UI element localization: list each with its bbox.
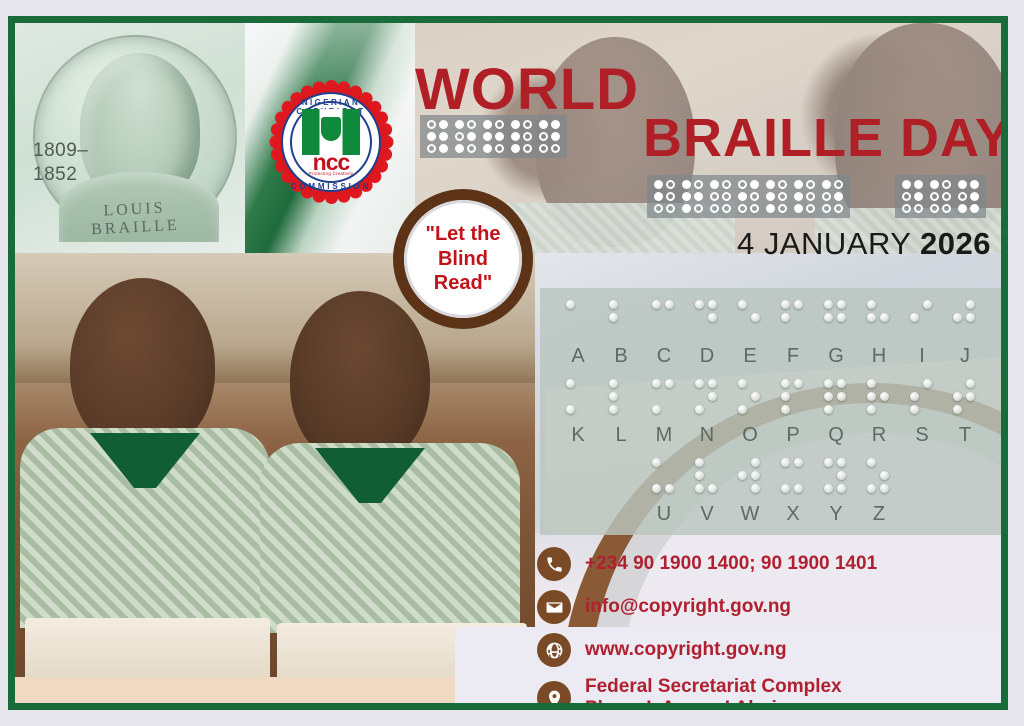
braille-dot [953,379,962,388]
braille-dot [738,192,747,201]
poster-frame: 1809– 1852 LOUIS BRAILLE [8,16,1008,710]
braille-cell-l [609,379,633,418]
braille-dot [880,300,889,309]
braille-dot [751,326,760,335]
braille-dot [622,405,631,414]
alphabet-cell-w: W [729,458,772,529]
braille-dot [781,326,790,335]
braille-dot [930,192,939,201]
alphabet-row-2: KLMNOPQRST [540,379,1001,450]
braille-dot [794,192,803,201]
braille-dot [867,392,876,401]
braille-dot [970,204,979,213]
braille-dot [880,326,889,335]
braille-dot [751,484,760,493]
braille-cell-h [867,300,891,339]
braille-dot [781,471,790,480]
braille-cell-w [738,458,762,497]
braille-dot [794,484,803,493]
braille-dot [579,405,588,414]
contact-text: info@copyright.gov.ng [585,596,791,618]
braille-dot [710,180,719,189]
alphabet-cell-o: O [729,379,772,450]
alphabet-letter-label: F [787,341,799,371]
braille-dot [652,300,661,309]
braille-dot [455,144,464,153]
braille-dot [794,300,803,309]
braille-dot [738,471,747,480]
braille-dot [953,300,962,309]
contact-row[interactable]: +234 90 1900 1400; 90 1900 1401 [537,547,1001,581]
braille-dot [695,484,704,493]
alphabet-cell-r: R [858,379,901,450]
braille-dot [914,204,923,213]
braille-dot [942,180,951,189]
braille-dot [579,313,588,322]
braille-cell-r [682,180,703,213]
location-icon [537,681,571,703]
braille-cell-v [695,458,719,497]
braille-cell-d [695,300,719,339]
braille-dot [867,313,876,322]
logo-tagline: Protecting Creativity [268,171,394,176]
braille-dot [837,326,846,335]
braille-dot [824,326,833,335]
braille-dot [622,379,631,388]
braille-dot [953,392,962,401]
braille-dot [923,392,932,401]
braille-dot [666,192,675,201]
braille-dot [880,392,889,401]
braille-dot [953,313,962,322]
braille-dot [910,405,919,414]
braille-dot [778,204,787,213]
braille-cell-b [609,300,633,339]
braille-dot [666,204,675,213]
braille-strip-braille [647,175,850,218]
braille-dot [708,484,717,493]
braille-dot [665,313,674,322]
braille-dot [652,405,661,414]
braille-dot [708,379,717,388]
alphabet-cell-b: B [600,300,643,371]
braille-dot [566,300,575,309]
braille-dot [902,192,911,201]
braille-dot [495,132,504,141]
braille-cell-o [455,120,476,153]
slogan-text: "Let the Blind Read" [425,222,500,295]
logo-coat-of-arms [321,117,341,141]
braille-dot [652,392,661,401]
braille-cell-a [710,180,731,213]
braille-cell-i [910,300,934,339]
braille-dot [824,392,833,401]
braille-dot [867,326,876,335]
braille-dot [837,405,846,414]
braille-dot [511,120,520,129]
braille-dot [942,192,951,201]
braille-dot [781,379,790,388]
braille-dot [806,192,815,201]
braille-dot [427,132,436,141]
alphabet-letter-label: X [786,499,799,529]
braille-dot [523,144,532,153]
braille-dot [880,458,889,467]
alphabet-cell-f: F [772,300,815,371]
braille-dot [880,484,889,493]
braille-dot [966,405,975,414]
braille-dot [695,471,704,480]
braille-cell-c [652,300,676,339]
braille-dot [834,192,843,201]
braille-dot [609,313,618,322]
braille-dot [666,180,675,189]
alphabet-cell-s: S [901,379,944,450]
alphabet-cell-d: D [686,300,729,371]
braille-dot [511,144,520,153]
braille-dot [722,180,731,189]
braille-dot [766,180,775,189]
alphabet-letter-label: G [828,341,844,371]
braille-dot [794,405,803,414]
alphabet-row-3: UVWXYZ [540,458,1001,529]
braille-dot [824,313,833,322]
student-head-boy [70,278,215,453]
braille-dot [923,405,932,414]
braille-dot [708,313,717,322]
braille-dot [566,392,575,401]
braille-dot [579,392,588,401]
braille-dot [923,326,932,335]
date-day-month: 4 JANUARY [737,226,920,261]
braille-dot [579,300,588,309]
alphabet-letter-label: U [657,499,671,529]
alphabet-cell-a: A [557,300,600,371]
braille-dot [970,192,979,201]
braille-dot [794,326,803,335]
braille-dot [695,405,704,414]
braille-dot [966,300,975,309]
alphabet-letter-label: C [657,341,671,371]
braille-dot [837,458,846,467]
braille-dot [794,180,803,189]
braille-dot [483,120,492,129]
braille-dot [551,144,560,153]
alphabet-cell-p: P [772,379,815,450]
braille-dot [622,313,631,322]
braille-dot [609,405,618,414]
braille-dot [751,313,760,322]
alphabet-cell-y: Y [815,458,858,529]
braille-dot [694,204,703,213]
braille-dot [455,132,464,141]
ncc-logo: NIGERIAN COPYRIGHT ncc Protecting Creati… [268,79,394,205]
email-icon [537,590,571,624]
braille-dot [910,300,919,309]
braille-dot [622,300,631,309]
alphabet-cell-x: X [772,458,815,529]
braille-dot [766,204,775,213]
braille-cell-g [824,300,848,339]
braille-dot [822,180,831,189]
contact-text: +234 90 1900 1400; 90 1900 1401 [585,553,877,575]
alphabet-cell-t: T [944,379,987,450]
braille-dot [622,326,631,335]
contact-row[interactable]: Federal Secretariat Complex Phase I, Ann… [537,676,1001,703]
braille-dot [539,120,548,129]
braille-dot [738,484,747,493]
braille-dot [781,300,790,309]
braille-cell-t [953,379,977,418]
alphabet-letter-label: Z [873,499,885,529]
braille-dot [483,144,492,153]
braille-dot [902,180,911,189]
braille-dot [652,458,661,467]
braille-dot [837,392,846,401]
braille-cell-b [654,180,675,213]
braille-cell-k [566,379,590,418]
contact-list: +234 90 1900 1400; 90 1900 1401info@copy… [537,547,1001,703]
braille-dot [824,300,833,309]
alphabet-letter-label: Y [829,499,842,529]
braille-dot [694,192,703,201]
braille-dot [738,458,747,467]
braille-dot [923,300,932,309]
braille-dot [794,458,803,467]
braille-dot [665,471,674,480]
braille-dot [966,313,975,322]
braille-dot [867,405,876,414]
slogan-line-2: Blind [425,247,500,271]
braille-cell-f [781,300,805,339]
braille-dot [914,180,923,189]
braille-dot [427,120,436,129]
braille-dot [566,405,575,414]
braille-cell-e [822,180,843,213]
braille-dot [738,204,747,213]
braille-dot [738,180,747,189]
braille-dot [566,379,575,388]
braille-cell-l [511,120,532,153]
braille-dot [958,180,967,189]
braille-dot [953,405,962,414]
braille-dot [867,471,876,480]
braille-dot [511,132,520,141]
braille-dot [837,471,846,480]
alphabet-letter-label: P [786,420,799,450]
contact-text: Federal Secretariat Complex Phase I, Ann… [585,676,842,703]
braille-dot [806,180,815,189]
braille-alphabet-chart: ABCDEFGHIJ KLMNOPQRST UVWXYZ [540,288,1001,535]
braille-dot [867,458,876,467]
alphabet-letter-label: I [919,341,925,371]
alphabet-cell-u: U [643,458,686,529]
braille-dot [867,300,876,309]
braille-dot [923,313,932,322]
braille-dot [439,132,448,141]
braille-cell-j [953,300,977,339]
braille-dot [566,326,575,335]
braille-cell-a [930,180,951,213]
contact-row[interactable]: www.copyright.gov.ng [537,633,1001,667]
braille-dot [738,313,747,322]
braille-dot [834,180,843,189]
braille-cell-x [781,458,805,497]
braille-dot [738,379,747,388]
braille-dot [824,379,833,388]
alphabet-cell-n: N [686,379,729,450]
contact-text: www.copyright.gov.ng [585,639,787,661]
alphabet-letter-label: M [656,420,673,450]
braille-dot [682,180,691,189]
braille-dot [566,313,575,322]
braille-dot [781,313,790,322]
alphabet-cell-z: Z [858,458,901,529]
braille-dot [609,300,618,309]
braille-dot [682,192,691,201]
braille-dot [781,458,790,467]
braille-dot [751,458,760,467]
braille-dot [751,379,760,388]
braille-dot [794,204,803,213]
braille-dot [665,326,674,335]
alphabet-letter-label: E [743,341,756,371]
alphabet-letter-label: H [872,341,886,371]
braille-dot [867,484,876,493]
braille-dot [665,392,674,401]
braille-cell-l [794,180,815,213]
braille-dot [738,300,747,309]
braille-dot [806,204,815,213]
braille-dot [467,144,476,153]
braille-dot [665,484,674,493]
braille-dot [455,120,464,129]
braille-dot [837,484,846,493]
poster-canvas: 1809– 1852 LOUIS BRAILLE [0,0,1024,726]
braille-dot [722,204,731,213]
braille-dot [824,458,833,467]
braille-dot [824,484,833,493]
braille-dot [722,192,731,201]
alphabet-letter-label: T [959,420,971,450]
slogan-badge: "Let the Blind Read" [393,189,533,329]
louis-braille-coin-photo: 1809– 1852 LOUIS BRAILLE [15,23,245,253]
braille-dot [837,379,846,388]
braille-dot [654,180,663,189]
alphabet-cell-e: E [729,300,772,371]
braille-dot [652,326,661,335]
braille-dot [966,379,975,388]
braille-cell-w [427,120,448,153]
braille-dot [822,192,831,201]
braille-dot [652,484,661,493]
braille-strip-day [895,175,986,218]
braille-dot [483,132,492,141]
braille-dot [694,180,703,189]
braille-dot [551,132,560,141]
braille-cell-e [738,300,762,339]
braille-dot [495,144,504,153]
braille-cell-r [867,379,891,418]
braille-dot [495,120,504,129]
braille-dot [837,300,846,309]
braille-dot [738,405,747,414]
braille-strip-world [420,115,567,158]
braille-dot [751,471,760,480]
braille-dot [609,326,618,335]
braille-cell-y [824,458,848,497]
braille-cell-p [781,379,805,418]
braille-dot [695,300,704,309]
braille-dot [766,192,775,201]
alphabet-letter-label: K [571,420,584,450]
braille-dot [910,392,919,401]
braille-dot [794,392,803,401]
alphabet-cell-g: G [815,300,858,371]
braille-dot [695,313,704,322]
braille-dot [751,405,760,414]
alphabet-letter-label: O [742,420,758,450]
alphabet-letter-label: S [915,420,928,450]
braille-dot [751,300,760,309]
braille-dot [880,379,889,388]
braille-dot [695,326,704,335]
braille-cell-o [738,379,762,418]
braille-dot [738,392,747,401]
contact-row[interactable]: info@copyright.gov.ng [537,590,1001,624]
braille-dot [751,392,760,401]
braille-dot [695,392,704,401]
braille-dot [778,192,787,201]
slogan-line-1: "Let the [425,222,500,246]
braille-dot [880,405,889,414]
alphabet-letter-label: A [571,341,584,371]
braille-dot [834,204,843,213]
braille-dot [427,144,436,153]
alphabet-letter-label: Q [828,420,844,450]
coin-years: 1809– 1852 [33,139,105,187]
braille-dot [910,326,919,335]
braille-dot [682,204,691,213]
braille-dot [750,180,759,189]
braille-cell-l [766,180,787,213]
braille-dot [822,204,831,213]
braille-dot [710,204,719,213]
braille-dot [665,405,674,414]
braille-cell-r [483,120,504,153]
date-year: 2026 [920,226,991,261]
braille-cell-m [652,379,676,418]
braille-dot [750,204,759,213]
braille-dot [910,379,919,388]
braille-cell-u [652,458,676,497]
braille-dot [880,471,889,480]
braille-dot [695,458,704,467]
braille-dot [523,120,532,129]
alphabet-cell-m: M [643,379,686,450]
braille-dot [824,405,833,414]
braille-dot [654,204,663,213]
braille-cell-z [867,458,891,497]
braille-dot [837,313,846,322]
braille-dot [654,192,663,201]
poster-inner: 1809– 1852 LOUIS BRAILLE [15,23,1001,703]
braille-dot [880,313,889,322]
alphabet-cell-v: V [686,458,729,529]
braille-dot [750,192,759,201]
alphabet-cell-q: Q [815,379,858,450]
braille-dot [710,192,719,201]
